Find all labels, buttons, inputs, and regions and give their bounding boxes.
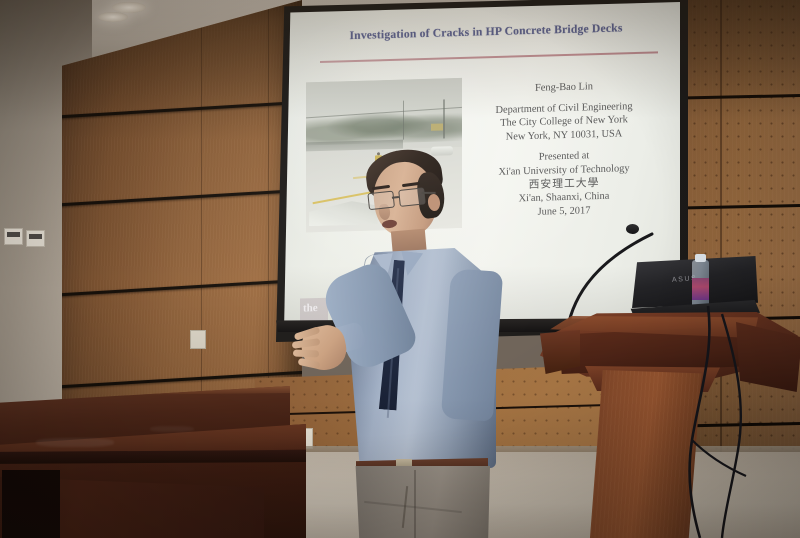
table-shadow-gap <box>2 470 60 538</box>
wall-switch[interactable] <box>26 230 45 247</box>
wall-switch[interactable] <box>4 228 23 245</box>
ceiling-light-icon <box>98 12 128 22</box>
slide-title: Investigation of Cracks in HP Concrete B… <box>310 20 662 43</box>
podium-left-wing <box>540 330 580 374</box>
cables <box>596 300 800 538</box>
microphone-head-icon <box>626 224 639 234</box>
slide-author: Feng-Bao Lin <box>460 78 668 98</box>
presentation-photo: Investigation of Cracks in HP Concrete B… <box>0 0 800 538</box>
speaker <box>300 150 510 538</box>
slide-title-rule <box>320 51 658 63</box>
far-arm <box>441 268 503 421</box>
trousers <box>350 466 490 538</box>
